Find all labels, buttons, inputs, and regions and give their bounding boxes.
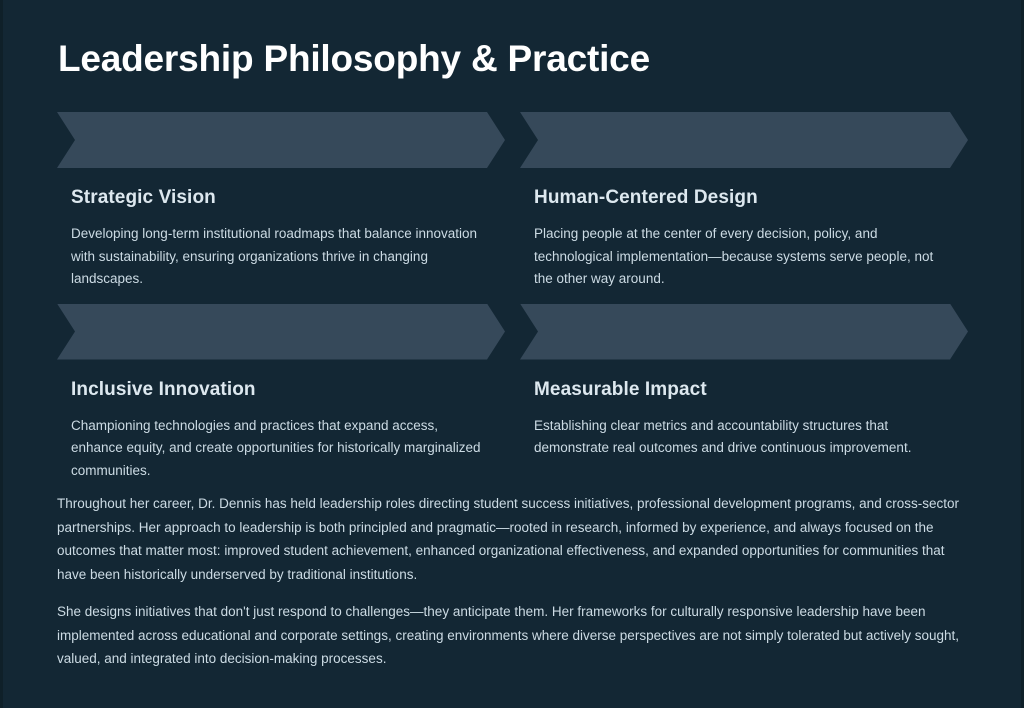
card-strategic-vision: Strategic Vision Developing long-term in…: [57, 112, 505, 291]
prose-paragraph: She designs initiatives that don't just …: [57, 600, 967, 671]
card-body: Measurable Impact Establishing clear met…: [520, 360, 968, 460]
card-description: Establishing clear metrics and accountab…: [534, 415, 954, 460]
card-heading: Inclusive Innovation: [71, 378, 491, 402]
card-description: Placing people at the center of every de…: [534, 223, 954, 291]
card-row-1: Strategic Vision Developing long-term in…: [57, 112, 969, 291]
card-body: Human-Centered Design Placing people at …: [520, 168, 968, 291]
card-description: Championing technologies and practices t…: [71, 415, 491, 483]
card-human-centered-design: Human-Centered Design Placing people at …: [520, 112, 968, 291]
card-body: Inclusive Innovation Championing technol…: [57, 360, 505, 483]
card-heading: Strategic Vision: [71, 186, 491, 210]
philosophy-card-grid: Strategic Vision Developing long-term in…: [57, 112, 969, 495]
card-row-2: Inclusive Innovation Championing technol…: [57, 304, 969, 483]
card-measurable-impact: Measurable Impact Establishing clear met…: [520, 304, 968, 483]
card-heading: Human-Centered Design: [534, 186, 954, 210]
card-body: Strategic Vision Developing long-term in…: [57, 168, 505, 291]
card-description: Developing long-term institutional roadm…: [71, 223, 491, 291]
biography-prose: Throughout her career, Dr. Dennis has he…: [57, 492, 967, 671]
chevron-banner-icon: [57, 112, 505, 168]
prose-paragraph: Throughout her career, Dr. Dennis has he…: [57, 492, 967, 586]
card-inclusive-innovation: Inclusive Innovation Championing technol…: [57, 304, 505, 483]
card-heading: Measurable Impact: [534, 378, 954, 402]
chevron-banner-icon: [520, 304, 968, 360]
chevron-banner-icon: [57, 304, 505, 360]
page-container: Leadership Philosophy & Practice Strateg…: [3, 0, 1021, 708]
page-title: Leadership Philosophy & Practice: [58, 36, 650, 82]
chevron-banner-icon: [520, 112, 968, 168]
